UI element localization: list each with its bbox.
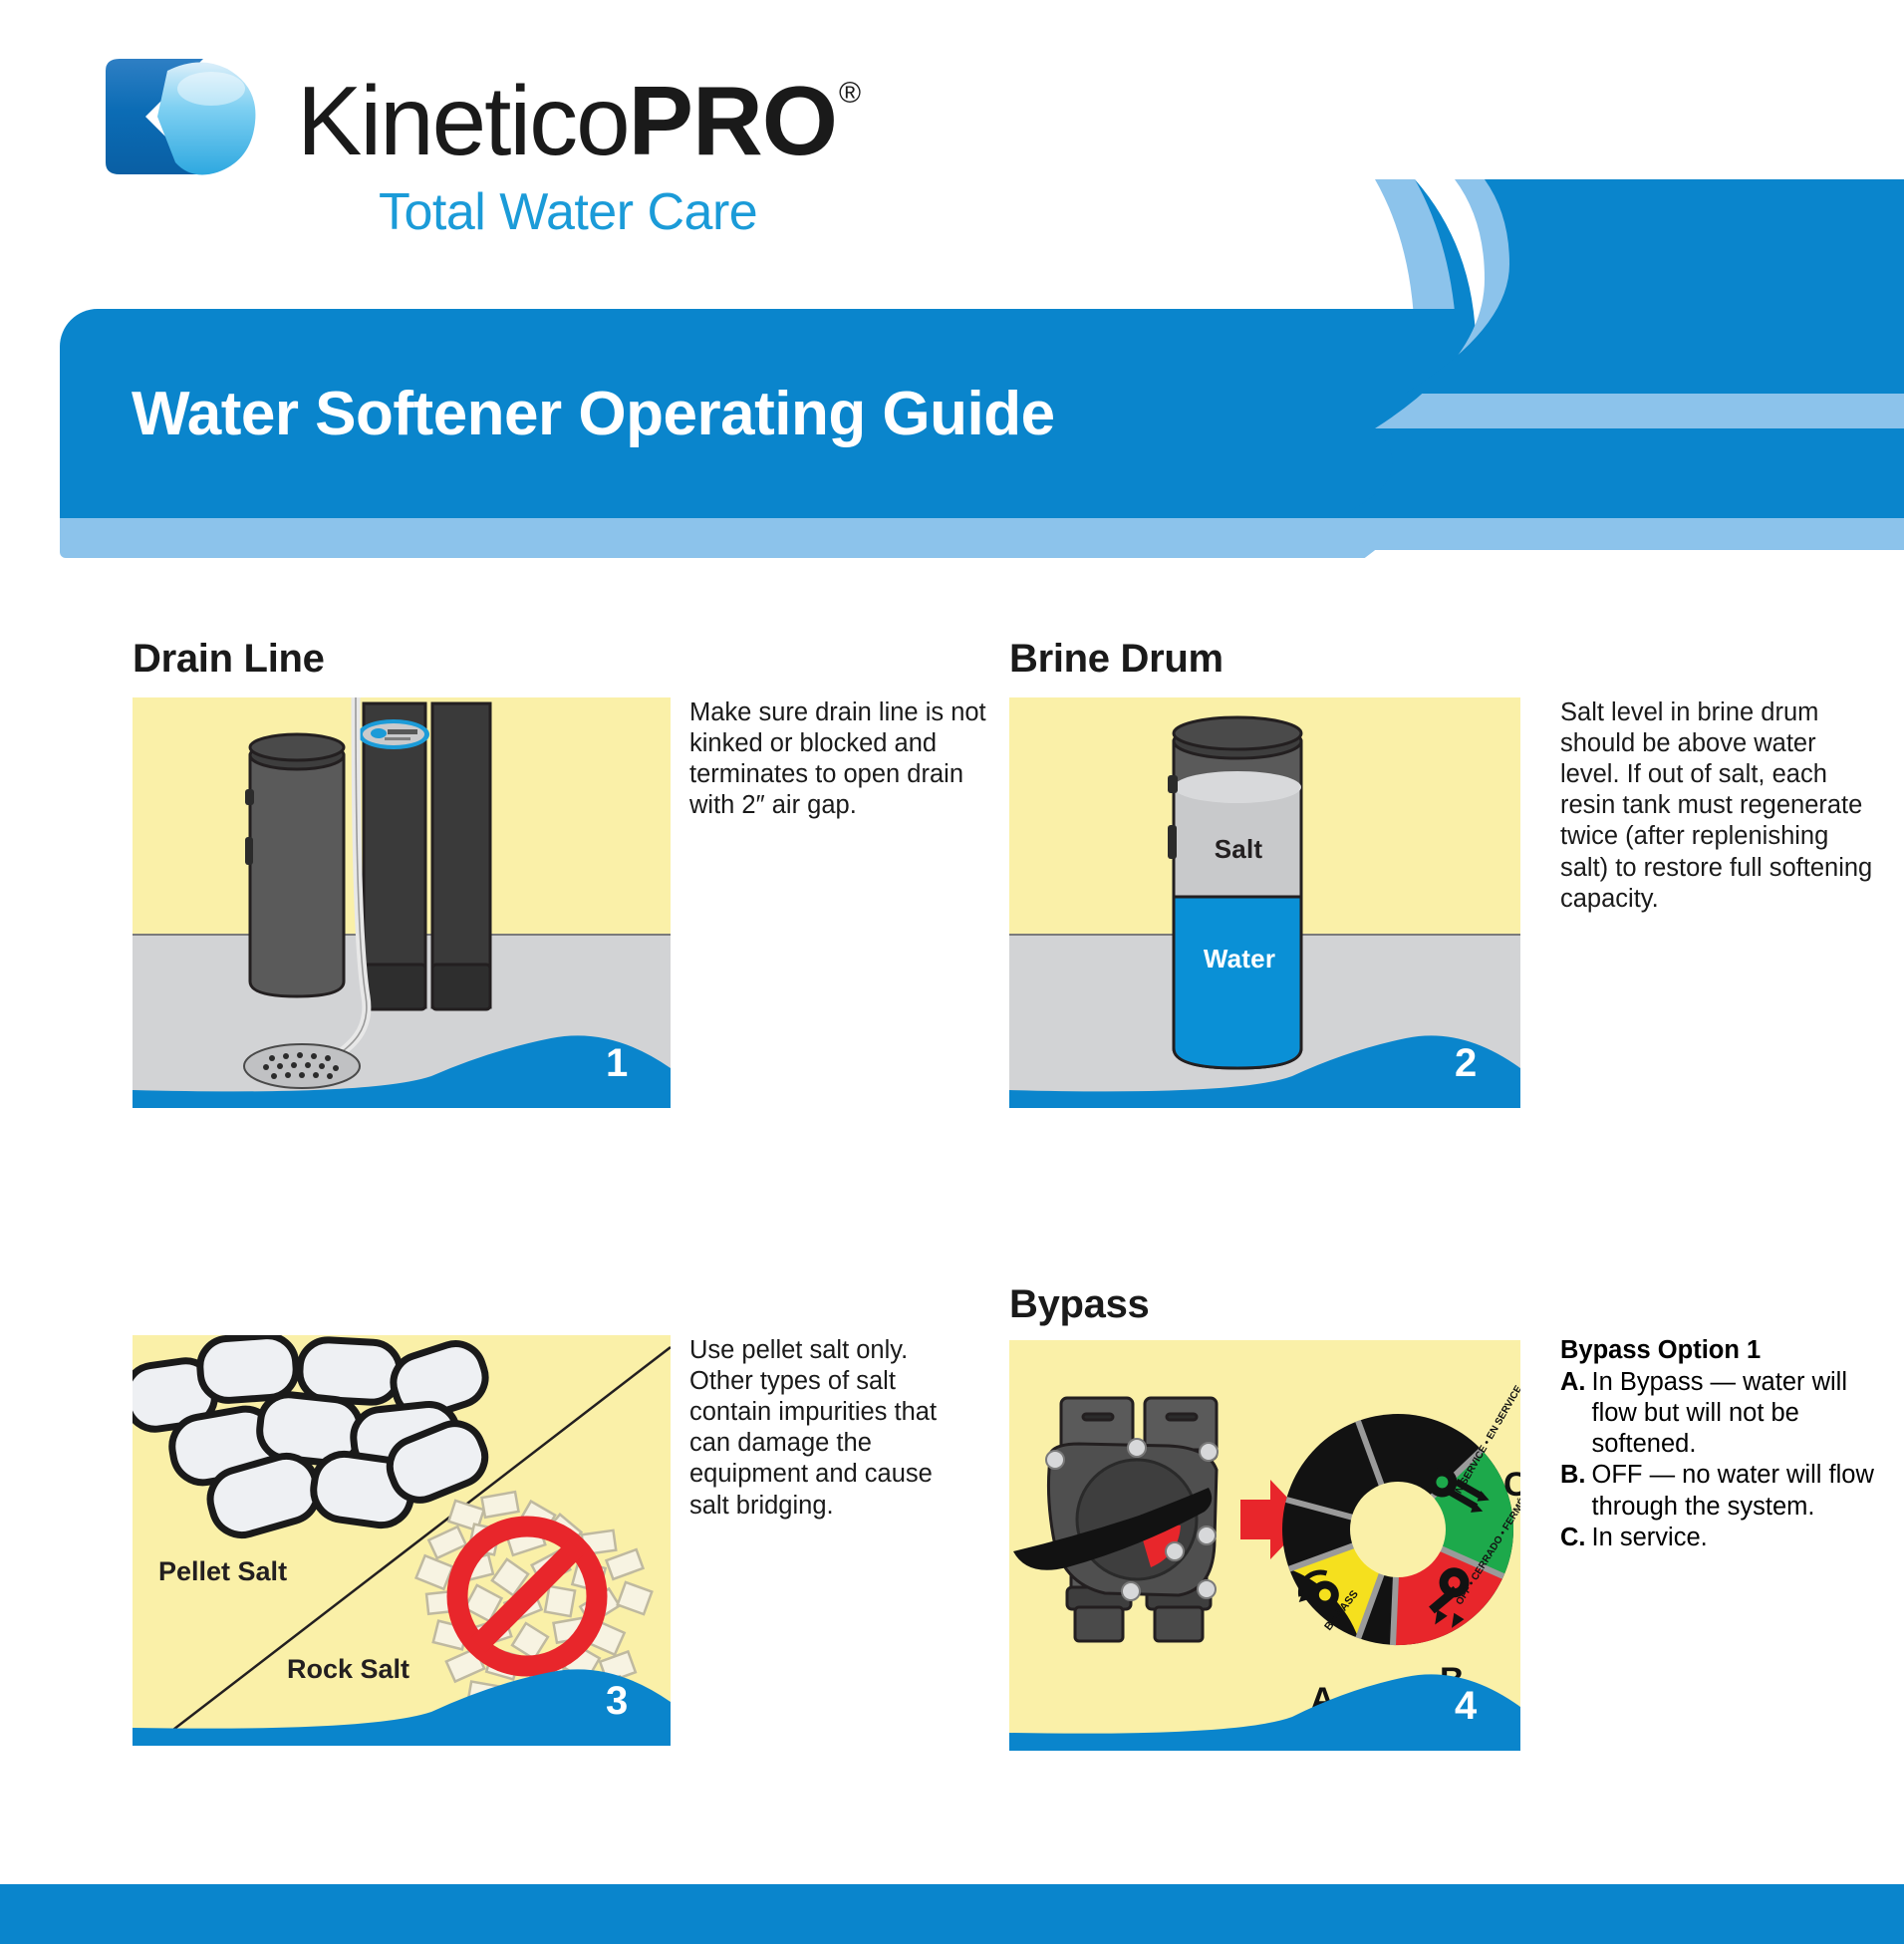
poster-page: KineticoPRO® Total Water Care Water Soft… — [0, 0, 1904, 1944]
footer-bar — [0, 1884, 1904, 1944]
caption-drain-line: Make sure drain line is not kinked or bl… — [689, 697, 988, 821]
panel-number-4: 4 — [1455, 1684, 1477, 1729]
valve-brand-badge — [358, 719, 429, 749]
caption-text-a: In Bypass — water will flow but will not… — [1592, 1367, 1890, 1460]
caption-key-b: B. — [1560, 1460, 1586, 1522]
caption-bypass-item-b: B. OFF — no water will flow through the … — [1560, 1460, 1889, 1522]
caption-key-c: C. — [1560, 1523, 1586, 1553]
brand-name-light: Kinetico — [297, 66, 629, 175]
caption-brine-drum: Salt level in brine drum should be above… — [1560, 697, 1879, 915]
banner-underline — [60, 518, 1475, 558]
figure-salt-types: Pellet Salt Rock Salt — [133, 1335, 671, 1746]
panel-title-drain-line: Drain Line — [133, 637, 325, 682]
floor-drain-icon — [244, 1044, 360, 1088]
page-title-banner: Water Softener Operating Guide — [60, 309, 1475, 518]
caption-bypass: Bypass Option 1 A. In Bypass — water wil… — [1560, 1335, 1889, 1553]
dial-letter-c: C. — [1503, 1466, 1520, 1504]
label-salt: Salt — [1194, 834, 1283, 865]
label-water: Water — [1185, 944, 1294, 974]
figure-drain-line — [133, 697, 671, 1108]
panel-number-2: 2 — [1455, 1041, 1477, 1086]
panel-number-3: 3 — [606, 1679, 628, 1724]
caption-bypass-item-a: A. In Bypass — water will flow but will … — [1560, 1367, 1889, 1460]
brand-wordmark: KineticoPRO® — [297, 72, 857, 169]
brand-name-bold: PRO — [629, 66, 837, 175]
registered-mark: ® — [839, 77, 859, 110]
label-rock-salt: Rock Salt — [287, 1654, 409, 1685]
banner-wave-tail — [1335, 179, 1904, 578]
caption-bypass-item-c: C. In service. — [1560, 1523, 1889, 1553]
caption-text-c: In service. — [1592, 1523, 1708, 1553]
figure-brine-drum: Salt Water — [1009, 697, 1520, 1108]
caption-bypass-heading: Bypass Option 1 — [1560, 1335, 1889, 1366]
caption-text-b: OFF — no water will flow through the sys… — [1592, 1460, 1890, 1522]
page-title: Water Softener Operating Guide — [132, 379, 1055, 449]
label-pellet-salt: Pellet Salt — [158, 1556, 287, 1587]
caption-key-a: A. — [1560, 1367, 1586, 1460]
kinetico-logo-icon — [100, 55, 271, 182]
panel-title-bypass: Bypass — [1009, 1282, 1150, 1327]
caption-salt-types: Use pellet salt only. Other types of sal… — [689, 1335, 956, 1522]
panel-number-1: 1 — [606, 1041, 628, 1086]
figure-bypass: BY-PASS OFF • CERRADO • FERMÉ — [1009, 1340, 1520, 1751]
panel-title-brine-drum: Brine Drum — [1009, 637, 1224, 682]
